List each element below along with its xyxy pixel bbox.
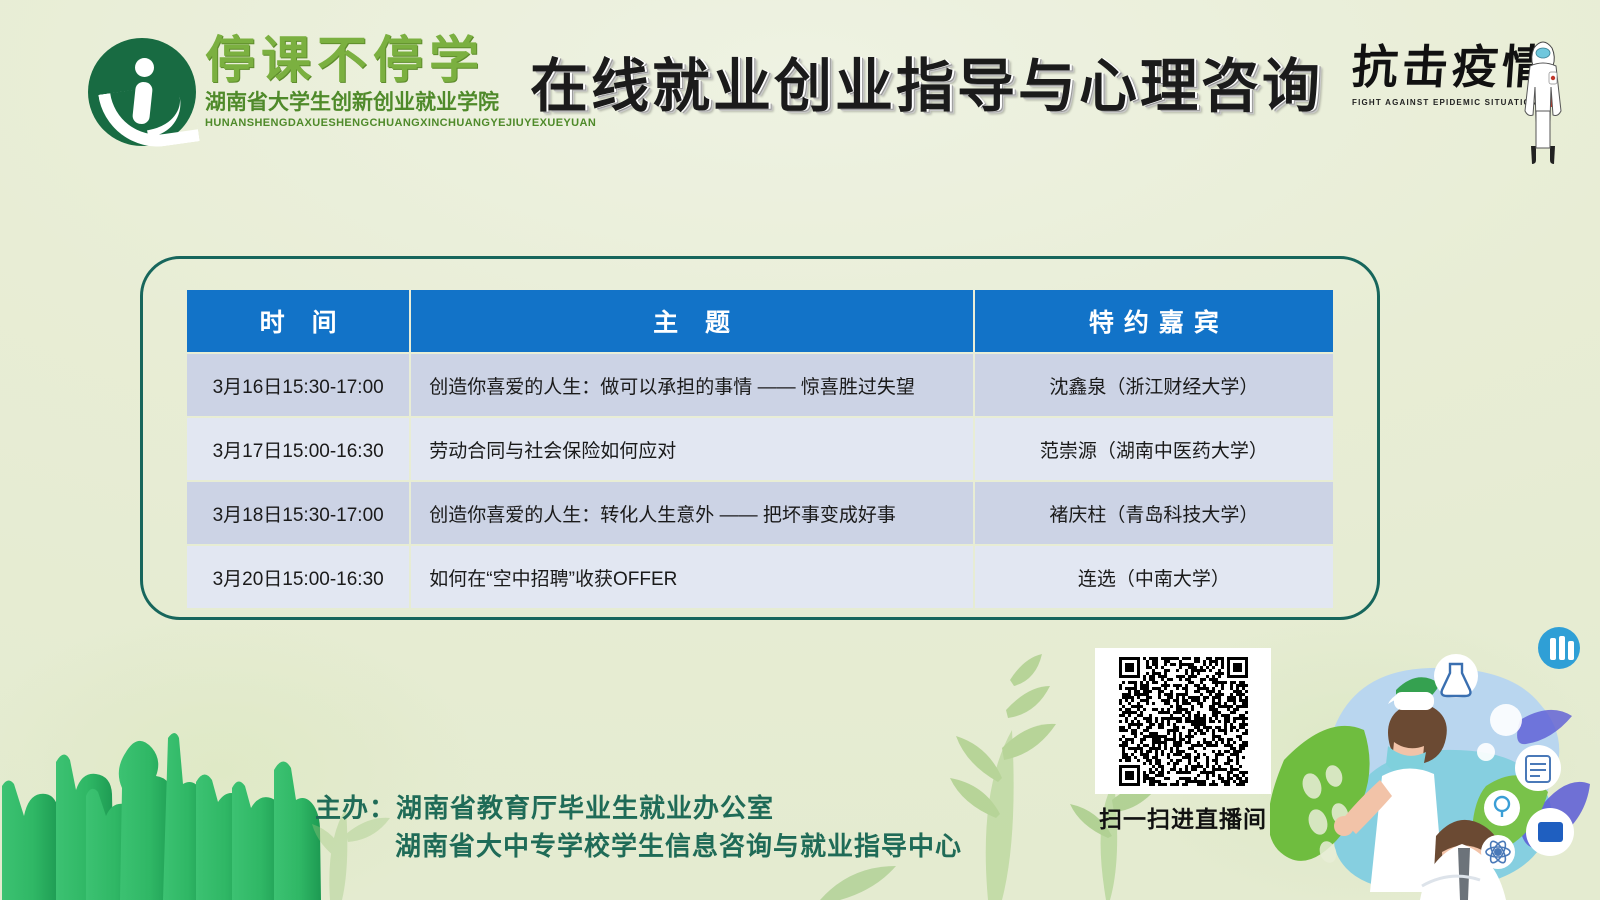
poster-canvas: 停课不停学 湖南省大学生创新创业就业学院 HUNANSHENGDAXUESHEN… — [0, 0, 1600, 900]
table-row: 3月18日15:30-17:00创造你喜爱的人生：转化人生意外 —— 把坏事变成… — [187, 482, 1333, 544]
epidemic-english-text: FIGHT AGAINST EPIDEMIC SITUATION — [1352, 98, 1538, 107]
organizer-line-2: 湖南省大中专学校学生信息咨询与就业指导中心 — [395, 828, 962, 866]
cell-topic: 创造你喜爱的人生：转化人生意外 —— 把坏事变成好事 — [411, 482, 972, 544]
logo-subtitle: 湖南省大学生创新创业就业学院 — [205, 91, 535, 114]
cell-guest: 沈鑫泉（浙江财经大学） — [975, 354, 1333, 416]
logo-text-block: 停课不停学 湖南省大学生创新创业就业学院 HUNANSHENGDAXUESHEN… — [205, 34, 535, 129]
logo-pinyin: HUNANSHENGDAXUESHENGCHUANGXINCHUANGYEJIU… — [205, 117, 535, 129]
schedule-table-header-row: 时 间 主 题 特约嘉宾 — [187, 290, 1333, 352]
cell-guest: 褚庆柱（青岛科技大学） — [975, 482, 1333, 544]
column-header-guest: 特约嘉宾 — [975, 290, 1333, 352]
cell-guest: 范崇源（湖南中医药大学） — [975, 418, 1333, 480]
page-title: 在线就业创业指导与心理咨询 — [530, 58, 1323, 116]
cell-topic: 劳动合同与社会保险如何应对 — [411, 418, 972, 480]
organizer-line-1: 主办：湖南省教育厅毕业生就业办公室 — [315, 790, 962, 828]
cell-topic: 如何在“空中招聘”收获OFFER — [411, 546, 972, 608]
table-row: 3月20日15:00-16:30如何在“空中招聘”收获OFFER连选（中南大学） — [187, 546, 1333, 608]
column-header-time: 时 间 — [187, 290, 409, 352]
institute-logo-icon — [88, 38, 196, 146]
cheering-crowd-silhouette-icon — [0, 700, 340, 900]
medical-team-illustration-icon — [1270, 600, 1600, 900]
hazmat-doctor-icon — [1520, 26, 1566, 166]
qr-caption: 扫一扫进直播间 — [1095, 800, 1271, 834]
cell-time: 3月16日15:30-17:00 — [187, 354, 409, 416]
poster-header: 停课不停学 湖南省大学生创新创业就业学院 HUNANSHENGDAXUESHEN… — [0, 0, 1600, 190]
cell-time: 3月20日15:00-16:30 — [187, 546, 409, 608]
logo-title: 停课不停学 — [205, 34, 535, 87]
organizer-block: 主办：湖南省教育厅毕业生就业办公室 湖南省大中专学校学生信息咨询与就业指导中心 — [315, 790, 962, 865]
qr-code-icon[interactable] — [1095, 648, 1271, 794]
table-row: 3月17日15:00-16:30劳动合同与社会保险如何应对范崇源（湖南中医药大学… — [187, 418, 1333, 480]
table-row: 3月16日15:30-17:00创造你喜爱的人生：做可以承担的事情 —— 惊喜胜… — [187, 354, 1333, 416]
column-header-topic: 主 题 — [411, 290, 972, 352]
cell-time: 3月17日15:00-16:30 — [187, 418, 409, 480]
epidemic-badge: 抗击疫情 FIGHT AGAINST EPIDEMIC SITUATION — [1352, 44, 1582, 174]
cell-guest: 连选（中南大学） — [975, 546, 1333, 608]
organizer-label: 主办： — [315, 793, 396, 823]
organizer-name-1: 湖南省教育厅毕业生就业办公室 — [396, 793, 774, 823]
schedule-table: 时 间 主 题 特约嘉宾 3月16日15:30-17:00创造你喜爱的人生：做可… — [185, 288, 1335, 610]
cell-topic: 创造你喜爱的人生：做可以承担的事情 —— 惊喜胜过失望 — [411, 354, 972, 416]
cell-time: 3月18日15:30-17:00 — [187, 482, 409, 544]
